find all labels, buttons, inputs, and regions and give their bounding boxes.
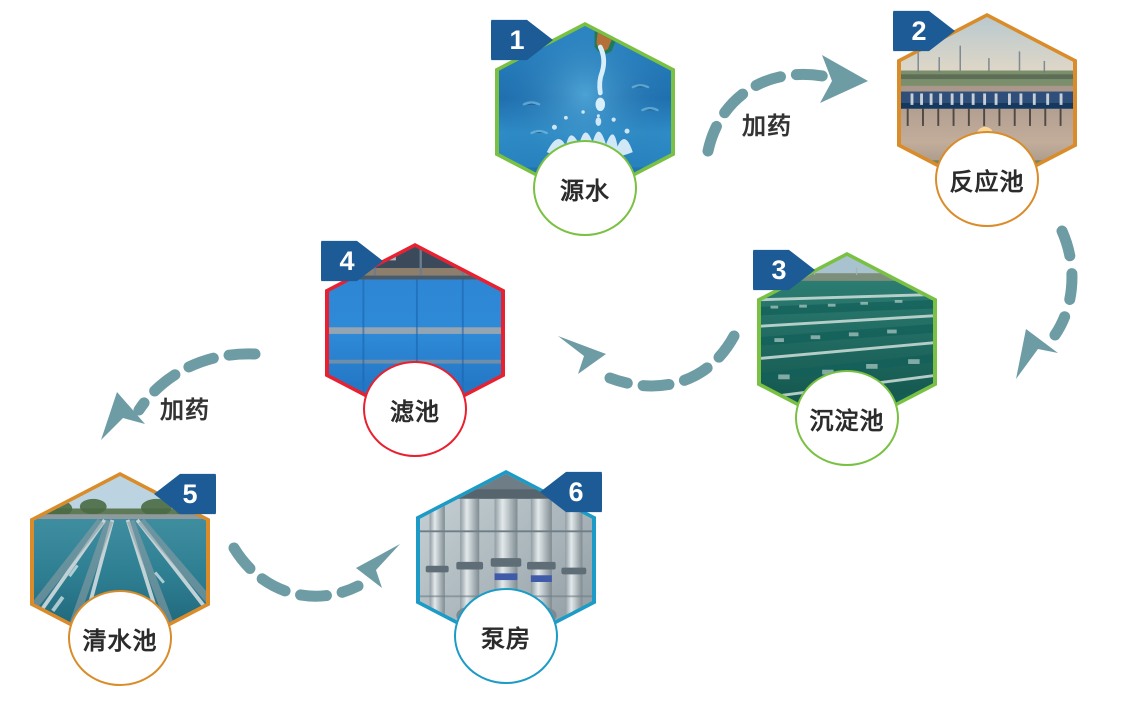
badge-number: 1 <box>491 16 553 64</box>
process-node-source-water[interactable]: 1 源水 <box>495 22 675 222</box>
arrow-label-dosing-left: 加药 <box>160 390 210 425</box>
node-label-bubble-sedimentation-tank: 沉淀池 <box>795 370 899 466</box>
node-label-text: 清水池 <box>83 621 158 656</box>
node-badge-6: 6 <box>540 468 602 516</box>
arrow-5-to-6-head <box>356 544 400 588</box>
badge-number: 5 <box>154 470 216 518</box>
arrow-4-to-5-head <box>101 392 145 440</box>
arrow-3-to-4 <box>548 326 763 406</box>
arrow-3-to-4-head <box>558 336 606 374</box>
badge-number: 6 <box>540 468 602 516</box>
node-label-bubble-clear-water-reservoir: 清水池 <box>68 590 172 686</box>
node-badge-1: 1 <box>491 16 553 64</box>
process-node-reaction-tank[interactable]: 2 反应池 <box>897 13 1077 213</box>
arrow-5-to-6-path <box>234 548 358 596</box>
process-node-clear-water-reservoir[interactable]: 5 清水池 <box>30 472 210 672</box>
process-flow-diagram: 加药 加药 <box>0 0 1130 714</box>
process-node-sedimentation-tank[interactable]: 3 沉淀池 <box>757 252 937 452</box>
arrow-2-to-3 <box>1000 225 1110 385</box>
arrow-5-to-6 <box>222 538 412 618</box>
arrow-3-to-4-path <box>610 336 734 386</box>
node-label-text: 沉淀池 <box>810 401 885 436</box>
node-badge-5: 5 <box>154 470 216 518</box>
arrow-label-dosing-top: 加药 <box>742 106 792 141</box>
node-label-text: 反应池 <box>950 162 1025 197</box>
process-node-pump-house[interactable]: 6 泵房 <box>416 470 596 670</box>
arrow-2-to-3-path <box>1055 231 1072 335</box>
node-label-text: 滤池 <box>390 392 440 427</box>
node-badge-2: 2 <box>893 7 955 55</box>
process-node-filter-tank[interactable]: 4 滤池 <box>325 243 505 443</box>
node-badge-4: 4 <box>321 237 383 285</box>
badge-number: 3 <box>753 246 815 294</box>
node-badge-3: 3 <box>753 246 815 294</box>
arrow-1-to-2 <box>700 55 890 165</box>
node-label-text: 泵房 <box>481 619 531 654</box>
badge-number: 2 <box>893 7 955 55</box>
node-label-bubble-pump-house: 泵房 <box>454 588 558 684</box>
node-label-bubble-source-water: 源水 <box>533 140 637 236</box>
arrow-1-to-2-head <box>820 55 868 103</box>
node-label-text: 源水 <box>560 171 610 206</box>
badge-number: 4 <box>321 237 383 285</box>
node-label-bubble-reaction-tank: 反应池 <box>935 131 1039 227</box>
node-label-bubble-filter-tank: 滤池 <box>363 361 467 457</box>
